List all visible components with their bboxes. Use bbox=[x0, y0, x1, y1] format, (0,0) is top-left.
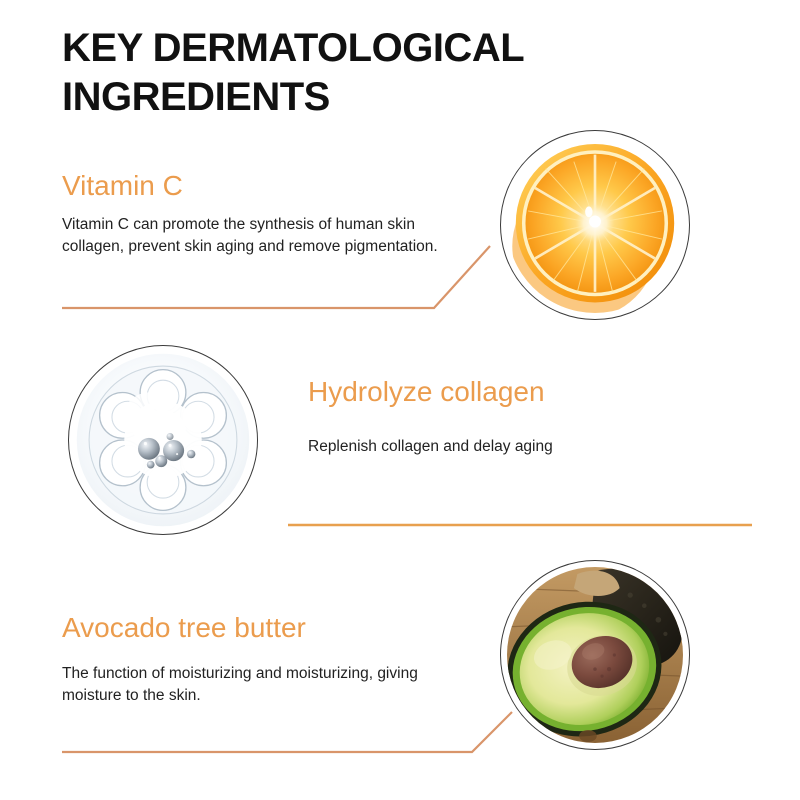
section-heading-hydrolyze-collagen: Hydrolyze collagen bbox=[308, 376, 545, 408]
image-frame-avocado bbox=[500, 560, 690, 750]
collagen-droplet-image bbox=[75, 352, 251, 528]
avocado-image bbox=[507, 567, 683, 743]
section-body-avocado-tree-butter: The function of moisturizing and moistur… bbox=[62, 663, 462, 707]
infographic-page: KEY DERMATOLOGICAL INGREDIENTS Vitamin C… bbox=[0, 0, 800, 800]
section-body-hydrolyze-collagen: Replenish collagen and delay aging bbox=[308, 436, 708, 458]
section-heading-vitamin-c: Vitamin C bbox=[62, 170, 183, 202]
connector-line-avocado bbox=[62, 712, 512, 752]
section-body-vitamin-c: Vitamin C can promote the synthesis of h… bbox=[62, 214, 452, 258]
page-title: KEY DERMATOLOGICAL INGREDIENTS bbox=[62, 24, 662, 122]
orange-slice-icon bbox=[507, 137, 683, 313]
gel-droplet-icon bbox=[75, 352, 251, 528]
avocado-icon bbox=[507, 567, 683, 743]
image-frame-orange-slice bbox=[500, 130, 690, 320]
orange-slice-image bbox=[507, 137, 683, 313]
section-heading-avocado-tree-butter: Avocado tree butter bbox=[62, 612, 306, 644]
image-frame-collagen-droplet bbox=[68, 345, 258, 535]
